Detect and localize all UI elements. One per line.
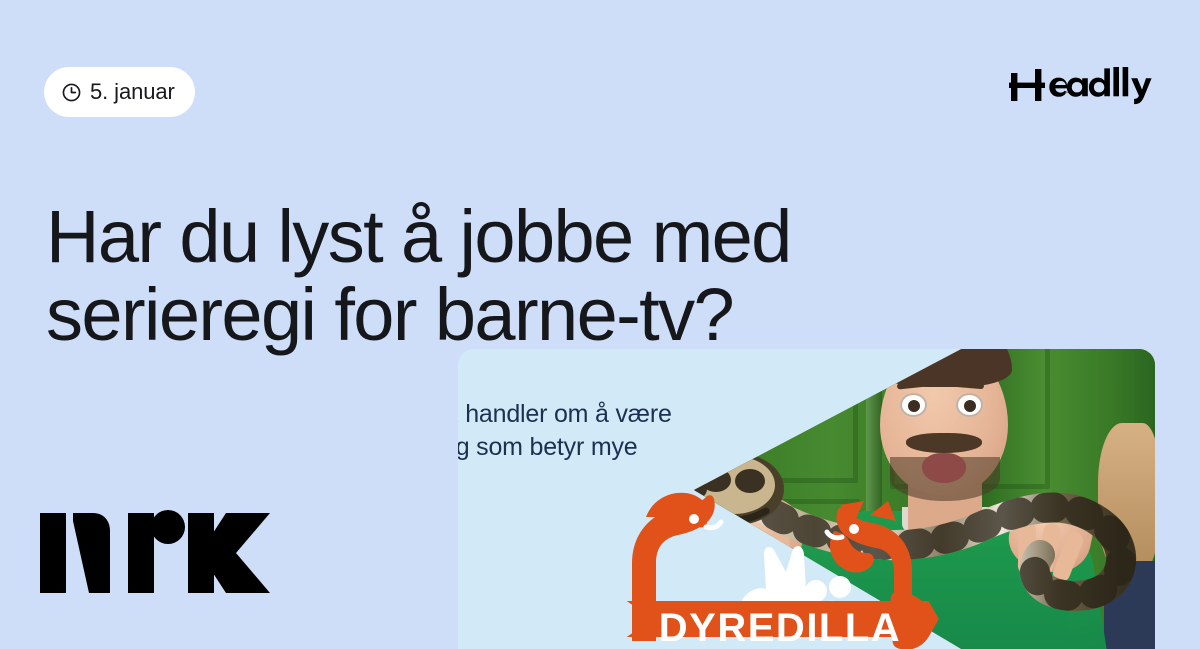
dyredilla-logo: DYREDILLA (602, 467, 942, 649)
thumbnail-caption-line-1: K handler om å være (458, 398, 672, 431)
date-badge: 5. januar (44, 67, 195, 117)
clock-icon (61, 82, 82, 103)
date-label: 5. januar (90, 81, 175, 103)
nrk-logo (40, 499, 288, 593)
thumbnail-caption-line-2: ag som betyr mye (458, 431, 672, 464)
article-thumbnail-card[interactable]: K handler om å være ag som betyr mye (458, 349, 1155, 649)
thumbnail-caption: K handler om å være ag som betyr mye (458, 398, 672, 465)
page-root: 5. januar Har (0, 0, 1200, 630)
page-title: Har du lyst å jobbe med serieregi for ba… (46, 198, 926, 355)
headly-logo[interactable] (1009, 63, 1161, 107)
dyredilla-wordmark: DYREDILLA (659, 606, 901, 649)
